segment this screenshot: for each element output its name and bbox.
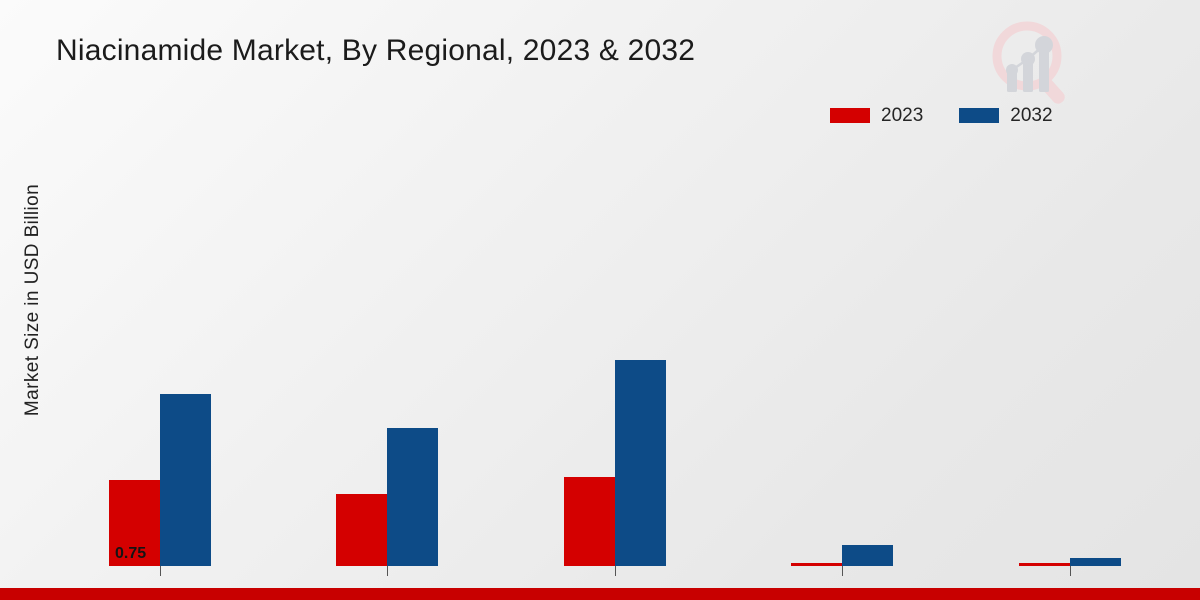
bar-pair bbox=[791, 545, 893, 566]
bar-2032-europe[interactable] bbox=[387, 428, 438, 566]
legend-swatch-2032 bbox=[959, 108, 999, 123]
x-axis-tick bbox=[160, 566, 161, 576]
chart-container: Niacinamide Market, By Regional, 2023 & … bbox=[0, 0, 1200, 600]
plot-area: 0.75NORTHAMERICAEUROPEAPACSOUTHAMERICAME… bbox=[52, 140, 1200, 513]
x-axis-tick bbox=[387, 566, 388, 576]
x-axis-tick bbox=[1070, 566, 1071, 576]
legend-label-2032: 2032 bbox=[1010, 106, 1052, 125]
bar-2032-apac[interactable] bbox=[615, 360, 666, 566]
bar-2023-europe[interactable] bbox=[336, 494, 387, 566]
chart-legend: 2023 2032 bbox=[830, 106, 1053, 125]
bar-pair bbox=[564, 360, 666, 566]
bar-pair bbox=[109, 394, 211, 566]
legend-item-2032[interactable]: 2032 bbox=[959, 106, 1052, 125]
y-axis-title: Market Size in USD Billion bbox=[14, 0, 52, 600]
chart-title: Niacinamide Market, By Regional, 2023 & … bbox=[56, 34, 695, 68]
legend-item-2023[interactable]: 2023 bbox=[830, 106, 923, 125]
legend-label-2023: 2023 bbox=[881, 106, 923, 125]
bar-2023-mea[interactable] bbox=[1019, 563, 1070, 566]
bar-2032-mea[interactable] bbox=[1070, 558, 1121, 566]
bar-value-label: 0.75 bbox=[115, 545, 146, 563]
x-axis-tick bbox=[842, 566, 843, 576]
bar-pair bbox=[336, 428, 438, 566]
bar-2023-apac[interactable] bbox=[564, 477, 615, 566]
legend-swatch-2023 bbox=[830, 108, 870, 123]
bar-2032-south-america[interactable] bbox=[842, 545, 893, 566]
x-axis-tick bbox=[615, 566, 616, 576]
watermark-logo-icon bbox=[982, 14, 1078, 106]
bar-2032-north-america[interactable] bbox=[160, 394, 211, 566]
bar-2023-south-america[interactable] bbox=[791, 563, 842, 566]
bar-pair bbox=[1019, 558, 1121, 566]
footer-band bbox=[0, 588, 1200, 600]
